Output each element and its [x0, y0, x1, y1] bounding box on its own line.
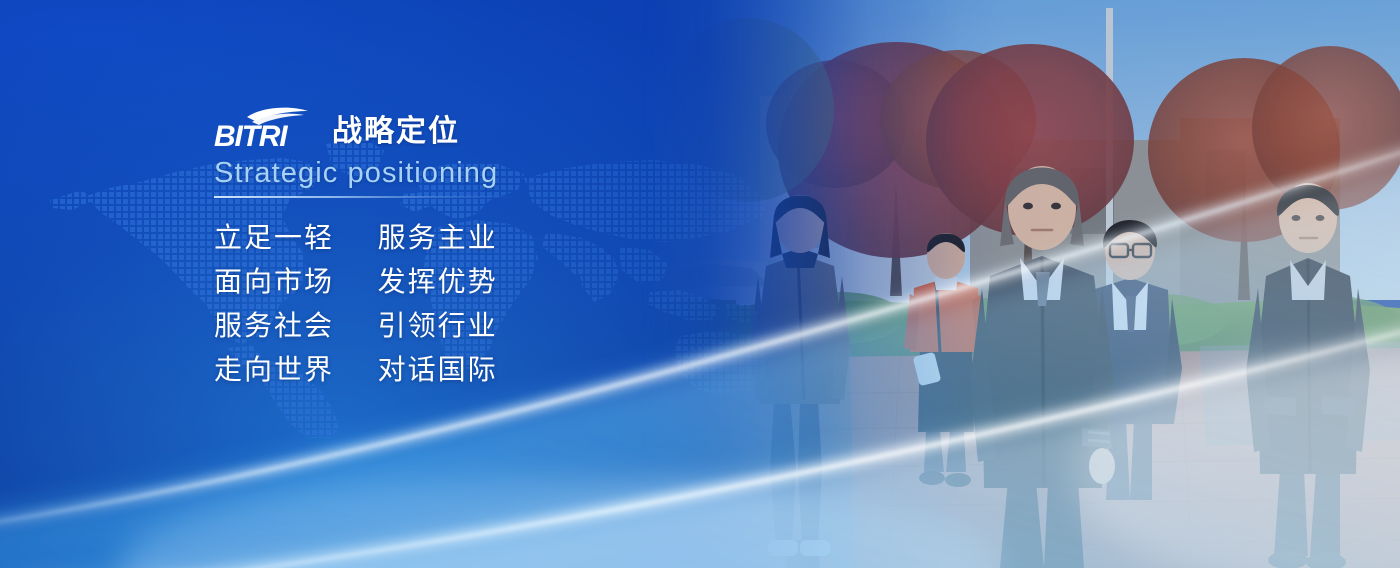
people-walking-photo	[640, 0, 1400, 568]
slogan-1-right: 服务主业	[378, 222, 498, 253]
slogan-3-right: 引领行业	[378, 310, 498, 341]
slogan-4-left: 走向世界	[214, 354, 334, 385]
brand-lockup: BITRI 战略定位	[214, 104, 684, 150]
bitri-logo: BITRI	[214, 106, 318, 150]
slogan-2-left: 面向市场	[214, 266, 334, 297]
slogan-line-2: 面向市场 发挥优势	[214, 260, 684, 304]
slogan-2-right: 发挥优势	[378, 266, 498, 297]
strategic-positioning-banner: BITRI 战略定位 Strategic positioning 立足一轻 服务…	[0, 0, 1400, 568]
banner-subtitle-en: Strategic positioning	[214, 156, 684, 191]
slogan-4-right: 对话国际	[378, 354, 498, 385]
slogan-list: 立足一轻 服务主业 面向市场 发挥优势 服务社会 引领行业 走向世界 对话国际	[214, 216, 684, 392]
banner-title-cn: 战略定位	[332, 117, 460, 150]
title-divider	[214, 196, 514, 198]
bitri-wordmark-text: BITRI	[214, 120, 288, 150]
slogan-line-3: 服务社会 引领行业	[214, 304, 684, 348]
slogan-line-4: 走向世界 对话国际	[214, 348, 684, 392]
slogan-3-left: 服务社会	[214, 310, 334, 341]
slogan-1-left: 立足一轻	[214, 222, 334, 253]
slogan-line-1: 立足一轻 服务主业	[214, 216, 684, 260]
banner-text-block: BITRI 战略定位 Strategic positioning 立足一轻 服务…	[214, 104, 684, 392]
